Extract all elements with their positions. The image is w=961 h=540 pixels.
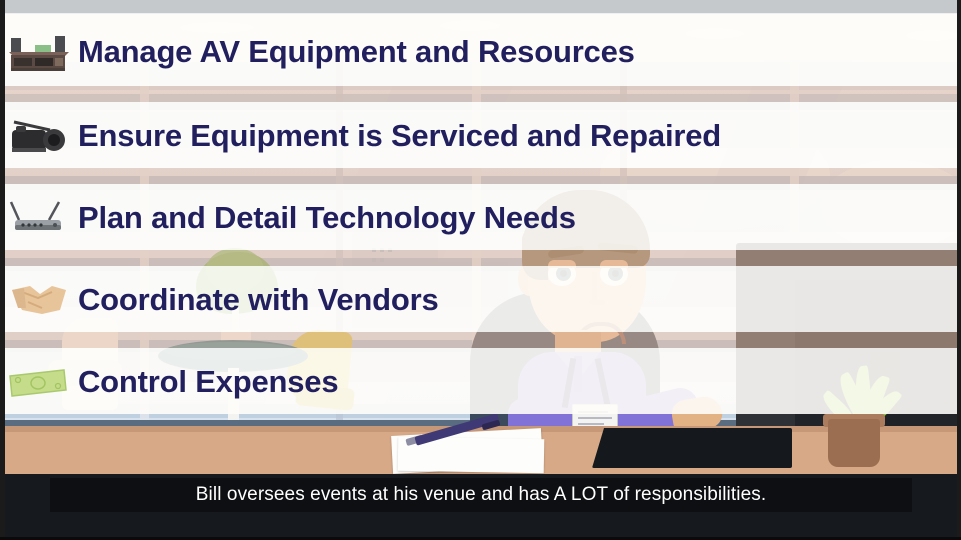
plant-pot [828, 419, 880, 467]
wifi-router-icon [0, 195, 78, 241]
list-item-label: Manage AV Equipment and Resources [78, 34, 635, 70]
list-item-coordinate-with-vendors[interactable]: Coordinate with Vendors [0, 272, 439, 328]
av-rack-icon [0, 29, 78, 75]
list-item-ensure-equipment-serviced[interactable]: Ensure Equipment is Serviced and Repaire… [0, 108, 721, 164]
list-item-label: Ensure Equipment is Serviced and Repaire… [78, 118, 721, 154]
list-item-manage-av-equipment[interactable]: Manage AV Equipment and Resources [0, 24, 635, 80]
keyboard [592, 428, 792, 468]
list-item-plan-technology-needs[interactable]: Plan and Detail Technology Needs [0, 190, 576, 246]
row-separator [0, 86, 961, 102]
row-separator [0, 250, 961, 266]
frame-edge-right [957, 0, 961, 540]
ceiling-strip [0, 0, 961, 13]
subtitle-bar: Bill oversees events at his venue and ha… [50, 478, 912, 512]
handshake-icon [0, 277, 78, 323]
list-item-label: Coordinate with Vendors [78, 282, 439, 318]
video-frame: Manage AV Equipment and Resources Ensure… [0, 0, 961, 540]
frame-edge-left [0, 0, 5, 540]
list-item-label: Control Expenses [78, 364, 338, 400]
row-separator [0, 332, 961, 348]
video-camera-icon [0, 113, 78, 159]
list-item-control-expenses[interactable]: Control Expenses [0, 354, 338, 410]
list-item-label: Plan and Detail Technology Needs [78, 200, 576, 236]
row-separator [0, 168, 961, 184]
money-bill-icon [0, 359, 78, 405]
subtitle-text: Bill oversees events at his venue and ha… [196, 484, 766, 506]
